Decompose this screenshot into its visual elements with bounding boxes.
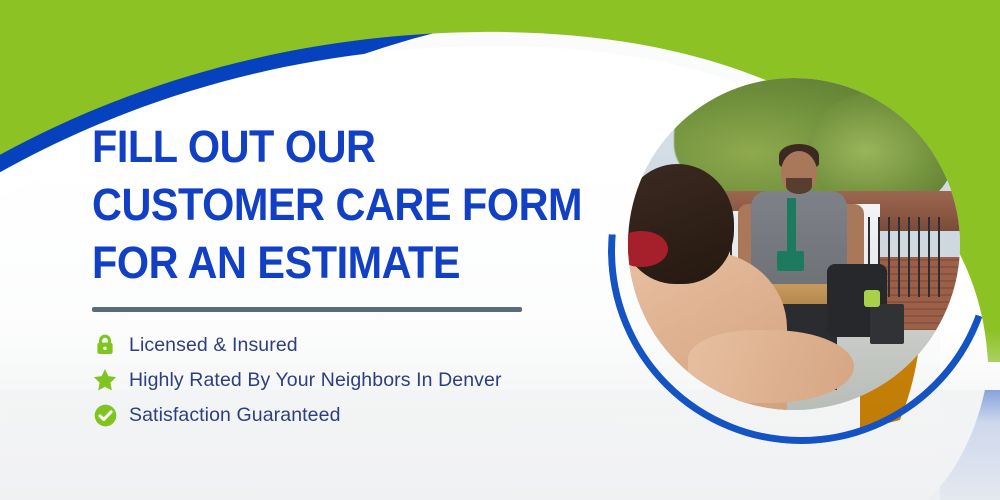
list-item: Satisfaction Guaranteed — [92, 402, 612, 428]
hero-photo — [628, 78, 960, 410]
star-icon — [92, 367, 118, 393]
page-title: FILL OUT OUR CUSTOMER CARE FORM FOR AN E… — [92, 124, 570, 285]
headline-line-2: CUSTOMER CARE FORM — [92, 182, 570, 227]
list-item: Licensed & Insured — [92, 332, 612, 358]
promo-banner: FILL OUT OUR CUSTOMER CARE FORM FOR AN E… — [0, 0, 1000, 500]
banner-content: FILL OUT OUR CUSTOMER CARE FORM FOR AN E… — [92, 124, 612, 428]
list-item-label: Highly Rated By Your Neighbors In Denver — [129, 369, 502, 392]
lock-icon — [92, 332, 118, 358]
feature-list: Licensed & Insured Highly Rated By Your … — [92, 332, 612, 428]
headline-line-3: FOR AN ESTIMATE — [92, 240, 570, 285]
list-item-label: Satisfaction Guaranteed — [129, 404, 341, 427]
divider — [92, 307, 522, 312]
check-circle-icon — [92, 402, 118, 428]
list-item: Highly Rated By Your Neighbors In Denver — [92, 367, 612, 393]
headline-line-1: FILL OUT OUR — [92, 124, 570, 169]
hero-photo-image — [628, 78, 960, 410]
list-item-label: Licensed & Insured — [129, 334, 298, 357]
